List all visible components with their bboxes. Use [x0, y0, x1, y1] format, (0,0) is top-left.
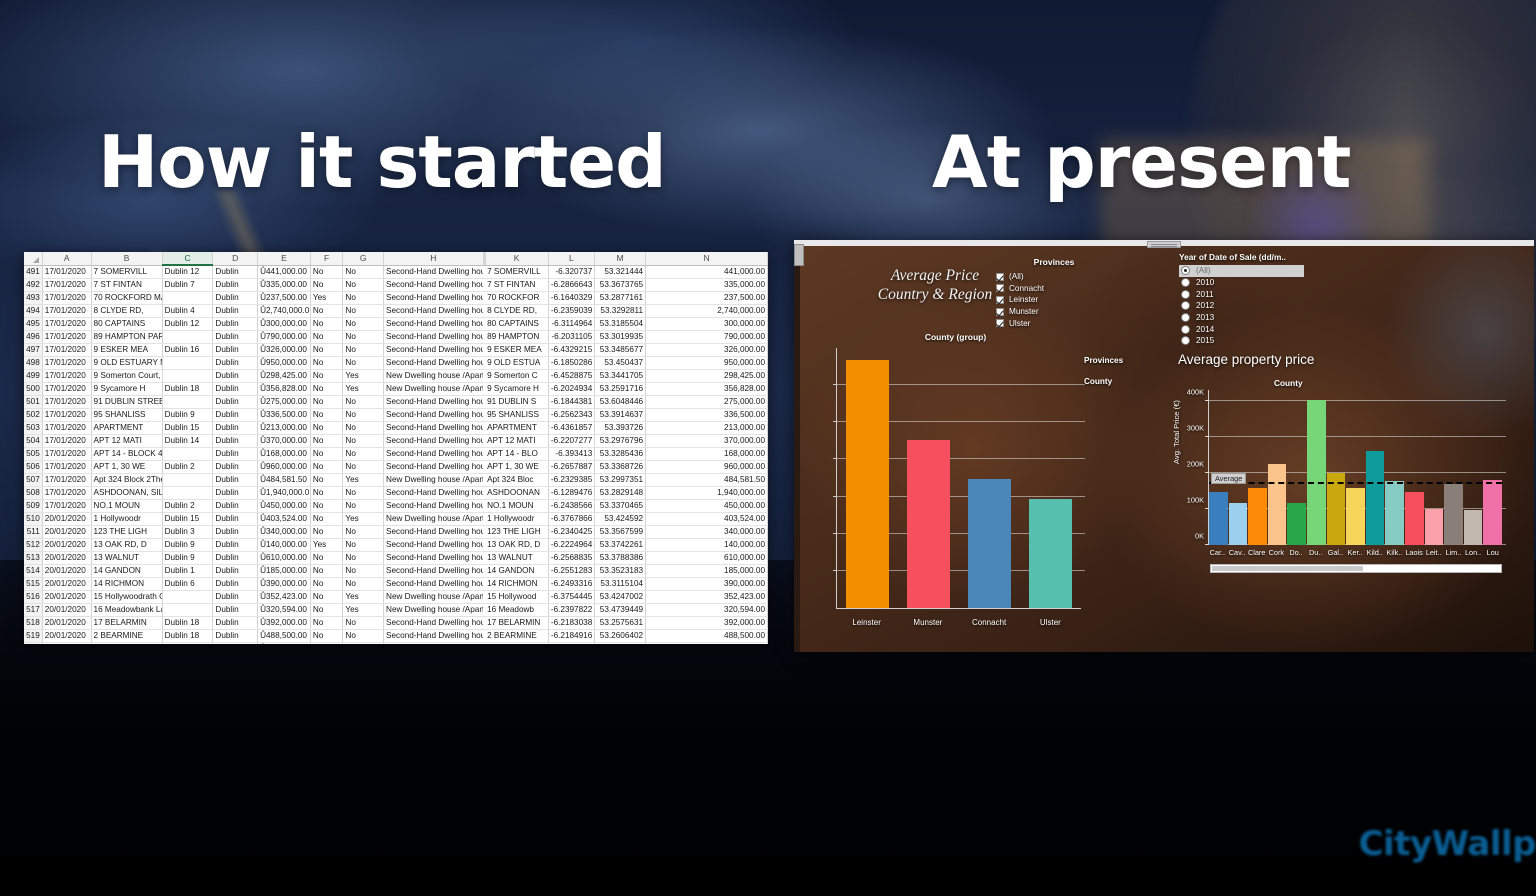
cell-b[interactable]: 1 Hollywoodr: [91, 513, 162, 526]
cell-f[interactable]: No: [310, 461, 343, 474]
cell-k[interactable]: 2 GLENBEIGH: [485, 643, 548, 645]
cell-d[interactable]: Dublin: [213, 344, 258, 357]
cell-nn[interactable]: 237,500.00: [646, 292, 768, 305]
cell-e[interactable]: Û185,000.00: [258, 565, 311, 578]
table-row[interactable]: 49717/01/20209 ESKER MEADublin 16DublinÛ…: [24, 344, 768, 357]
cell-k[interactable]: 9 Sycamore H: [485, 383, 548, 396]
cell-e[interactable]: Û300,000.00: [258, 318, 311, 331]
table-row[interactable]: 50017/01/20209 Sycamore HDublin 18Dublin…: [24, 383, 768, 396]
cell-nn[interactable]: 392,000.00: [646, 617, 768, 630]
cell-e[interactable]: Û390,000.00: [258, 578, 311, 591]
cell-l[interactable]: -6.1289476: [548, 487, 595, 500]
cell-nn[interactable]: 340,000.00: [646, 526, 768, 539]
row-number[interactable]: 493: [24, 292, 42, 305]
provinces-checkbox-list[interactable]: (All)ConnachtLeinsterMunsterUlster: [994, 271, 1114, 329]
row-number[interactable]: 510: [24, 513, 42, 526]
cell-h[interactable]: New Dwelling house /Apartment: [384, 591, 484, 604]
cell-g[interactable]: No: [343, 357, 384, 370]
cell-b[interactable]: 14 GANDON: [91, 565, 162, 578]
cell-f[interactable]: No: [310, 552, 343, 565]
cell-c[interactable]: Dublin 2: [162, 461, 213, 474]
cell-e[interactable]: Û213,000.00: [258, 422, 311, 435]
cell-g[interactable]: No: [343, 331, 384, 344]
cell-f[interactable]: No: [310, 357, 343, 370]
cell-g[interactable]: No: [343, 292, 384, 305]
cell-k[interactable]: 9 ESKER MEA: [485, 344, 548, 357]
cell-f[interactable]: No: [310, 643, 343, 645]
cell-d[interactable]: Dublin: [213, 461, 258, 474]
cell-h[interactable]: Second-Hand Dwelling house /Apartme: [384, 331, 484, 344]
cell-c[interactable]: [162, 448, 213, 461]
cell-m[interactable]: 53.2575631: [595, 617, 646, 630]
table-row[interactable]: 49317/01/202070 ROCKFORD MANOR, STDublin…: [24, 292, 768, 305]
cell-h[interactable]: Second-Hand Dwelling house /Apartme: [384, 461, 484, 474]
table-row[interactable]: 50717/01/2020Apt 324 Block 2The Elms,Dub…: [24, 474, 768, 487]
row-number[interactable]: 517: [24, 604, 42, 617]
cell-f[interactable]: No: [310, 409, 343, 422]
cell-k[interactable]: 1 Hollywoodr: [485, 513, 548, 526]
column-header-n[interactable]: N: [646, 252, 768, 265]
cell-a[interactable]: 17/01/2020: [42, 422, 91, 435]
radio-button-icon[interactable]: [1181, 290, 1190, 299]
cell-d[interactable]: Dublin: [213, 383, 258, 396]
cell-d[interactable]: Dublin: [213, 474, 258, 487]
cell-d[interactable]: Dublin: [213, 357, 258, 370]
row-number[interactable]: 499: [24, 370, 42, 383]
cell-e[interactable]: Û1,940,000.0: [258, 487, 311, 500]
table-row[interactable]: 51720/01/202016 Meadowbank Lane, MilDubl…: [24, 604, 768, 617]
cell-c[interactable]: [162, 357, 213, 370]
cell-l[interactable]: -6.3114964: [548, 318, 595, 331]
cell-h[interactable]: Second-Hand Dwelling house /Apartme: [384, 318, 484, 331]
cell-b[interactable]: 17 BELARMIN: [91, 617, 162, 630]
cell-a[interactable]: 20/01/2020: [42, 591, 91, 604]
cell-f[interactable]: No: [310, 591, 343, 604]
cell-b[interactable]: APT 12 MATI: [91, 435, 162, 448]
cell-b[interactable]: 15 Hollywoodrath Grove, H: [91, 591, 162, 604]
cell-k[interactable]: 14 RICHMON: [485, 578, 548, 591]
cell-nn[interactable]: 950,000.00: [646, 357, 768, 370]
bar-kerry[interactable]: [1346, 488, 1365, 545]
row-number[interactable]: 511: [24, 526, 42, 539]
radio-button-icon[interactable]: [1181, 336, 1190, 345]
cell-d[interactable]: Dublin: [213, 370, 258, 383]
cell-d[interactable]: Dublin: [213, 448, 258, 461]
cell-g[interactable]: No: [343, 552, 384, 565]
cell-h[interactable]: Second-Hand Dwelling house /Apartme: [384, 396, 484, 409]
row-number[interactable]: 492: [24, 279, 42, 292]
cell-c[interactable]: [162, 396, 213, 409]
cell-m[interactable]: 53.3523183: [595, 565, 646, 578]
cell-nn[interactable]: 352,423.00: [646, 591, 768, 604]
cell-nn[interactable]: 488,500.00: [646, 630, 768, 643]
cell-c[interactable]: Dublin 16: [162, 344, 213, 357]
cell-h[interactable]: Second-Hand Dwelling house /Apartme: [384, 357, 484, 370]
cell-f[interactable]: No: [310, 604, 343, 617]
cell-g[interactable]: No: [343, 279, 384, 292]
cell-g[interactable]: No: [343, 305, 384, 318]
cell-f[interactable]: No: [310, 305, 343, 318]
cell-a[interactable]: 17/01/2020: [42, 396, 91, 409]
row-number[interactable]: 503: [24, 422, 42, 435]
cell-nn[interactable]: 385,000.00: [646, 643, 768, 645]
dashboard-title-bar[interactable]: [794, 240, 1534, 246]
cell-f[interactable]: No: [310, 500, 343, 513]
cell-l[interactable]: -6.2183038: [548, 617, 595, 630]
table-row[interactable]: 51620/01/202015 Hollywoodrath Grove, HDu…: [24, 591, 768, 604]
cell-e[interactable]: Û326,000.00: [258, 344, 311, 357]
cell-k[interactable]: 15 Hollywood: [485, 591, 548, 604]
column-header-k[interactable]: K: [485, 252, 548, 265]
cell-a[interactable]: 17/01/2020: [42, 292, 91, 305]
cell-f[interactable]: No: [310, 344, 343, 357]
cell-c[interactable]: Dublin 18: [162, 617, 213, 630]
province-bars[interactable]: [837, 348, 1081, 608]
cell-e[interactable]: Û140,000.00: [258, 539, 311, 552]
cell-h[interactable]: Second-Hand Dwelling house /Apartme: [384, 552, 484, 565]
row-number[interactable]: 509: [24, 500, 42, 513]
cell-nn[interactable]: 320,594.00: [646, 604, 768, 617]
cell-d[interactable]: Dublin: [213, 500, 258, 513]
cell-a[interactable]: 17/01/2020: [42, 409, 91, 422]
cell-d[interactable]: Dublin: [213, 409, 258, 422]
cell-l[interactable]: -6.4528875: [548, 370, 595, 383]
cell-k[interactable]: 16 Meadowb: [485, 604, 548, 617]
cell-e[interactable]: Û403,524.00: [258, 513, 311, 526]
cell-c[interactable]: [162, 474, 213, 487]
province-bar-group[interactable]: [898, 348, 959, 608]
cell-l[interactable]: -6.1640329: [548, 292, 595, 305]
cell-e[interactable]: Û298,425.00: [258, 370, 311, 383]
cell-f[interactable]: No: [310, 422, 343, 435]
cell-nn[interactable]: 336,500.00: [646, 409, 768, 422]
cell-c[interactable]: Dublin 9: [162, 539, 213, 552]
table-row[interactable]: 51520/01/202014 RICHMONDublin 6DublinÛ39…: [24, 578, 768, 591]
cell-a[interactable]: 20/01/2020: [42, 578, 91, 591]
cell-k[interactable]: APT 14 - BLO: [485, 448, 548, 461]
cell-f[interactable]: No: [310, 617, 343, 630]
cell-m[interactable]: 53.3914637: [595, 409, 646, 422]
radio-button-icon[interactable]: [1181, 313, 1190, 322]
cell-l[interactable]: -6.2184916: [548, 630, 595, 643]
cell-l[interactable]: -6.3754445: [548, 591, 595, 604]
cell-nn[interactable]: 2,740,000.00: [646, 305, 768, 318]
row-number[interactable]: 507: [24, 474, 42, 487]
cell-f[interactable]: No: [310, 435, 343, 448]
cell-l[interactable]: -6.2551283: [548, 565, 595, 578]
cell-l[interactable]: -6.29601: [548, 643, 595, 645]
bar-limerick[interactable]: [1444, 484, 1463, 545]
cell-e[interactable]: Û488,500.00: [258, 630, 311, 643]
row-number[interactable]: 497: [24, 344, 42, 357]
cell-m[interactable]: 53.3292811: [595, 305, 646, 318]
cell-b[interactable]: 9 Somerton Court, Lucan: [91, 370, 162, 383]
cell-f[interactable]: No: [310, 370, 343, 383]
bar-kildare[interactable]: [1366, 451, 1385, 545]
cell-k[interactable]: APARTMENT: [485, 422, 548, 435]
year-radio-row-2013[interactable]: 2013: [1179, 312, 1304, 324]
cell-c[interactable]: Dublin 9: [162, 409, 213, 422]
cell-a[interactable]: 20/01/2020: [42, 552, 91, 565]
cell-h[interactable]: Second-Hand Dwelling house /Apartme: [384, 292, 484, 305]
cell-k[interactable]: 9 Somerton C: [485, 370, 548, 383]
county-chart-scrollbar[interactable]: [1210, 564, 1502, 573]
cell-nn[interactable]: 610,000.00: [646, 552, 768, 565]
cell-g[interactable]: Yes: [343, 591, 384, 604]
cell-b[interactable]: 2 BEARMINE: [91, 630, 162, 643]
cell-m[interactable]: 53.4247002: [595, 591, 646, 604]
cell-a[interactable]: 17/01/2020: [42, 265, 91, 279]
cell-h[interactable]: Second-Hand Dwelling house /Apartme: [384, 448, 484, 461]
row-number[interactable]: 500: [24, 383, 42, 396]
cell-nn[interactable]: 390,000.00: [646, 578, 768, 591]
table-row[interactable]: 50817/01/2020ASHDOONAN, SILCHESTERDublin…: [24, 487, 768, 500]
cell-l[interactable]: -6.2207277: [548, 435, 595, 448]
cell-a[interactable]: 17/01/2020: [42, 370, 91, 383]
cell-g[interactable]: No: [343, 422, 384, 435]
cell-h[interactable]: Second-Hand Dwelling house /Apartme: [384, 265, 484, 279]
cell-d[interactable]: Dublin: [213, 604, 258, 617]
cell-l[interactable]: -6.2329385: [548, 474, 595, 487]
row-number[interactable]: 496: [24, 331, 42, 344]
cell-b[interactable]: 80 CAPTAINS: [91, 318, 162, 331]
checkbox-icon[interactable]: [996, 319, 1004, 327]
cell-c[interactable]: Dublin 12: [162, 318, 213, 331]
cell-b[interactable]: Apt 324 Block 2The Elms,: [91, 474, 162, 487]
row-number[interactable]: 516: [24, 591, 42, 604]
cell-h[interactable]: Second-Hand Dwelling house /Apartme: [384, 578, 484, 591]
cell-g[interactable]: No: [343, 500, 384, 513]
table-row[interactable]: 51120/01/2020123 THE LIGHDublin 3DublinÛ…: [24, 526, 768, 539]
cell-g[interactable]: Yes: [343, 604, 384, 617]
cell-nn[interactable]: 356,828.00: [646, 383, 768, 396]
cell-f[interactable]: No: [310, 487, 343, 500]
cell-a[interactable]: 17/01/2020: [42, 344, 91, 357]
county-bar-chart[interactable]: Average property price County Avg. Total…: [1174, 352, 1504, 612]
cell-a[interactable]: 20/01/2020: [42, 604, 91, 617]
bar-munster[interactable]: [907, 440, 950, 608]
province-checkbox-row-all[interactable]: (All): [994, 271, 1114, 283]
cell-h[interactable]: Second-Hand Dwelling house /Apartme: [384, 344, 484, 357]
cell-m[interactable]: 53.2829148: [595, 487, 646, 500]
province-checkbox-row-leinster[interactable]: Leinster: [994, 294, 1114, 306]
cell-d[interactable]: Dublin: [213, 539, 258, 552]
province-bar-group[interactable]: [837, 348, 898, 608]
cell-k[interactable]: 123 THE LIGH: [485, 526, 548, 539]
cell-f[interactable]: No: [310, 513, 343, 526]
cell-b[interactable]: 16 Meadowbank Lane, Mil: [91, 604, 162, 617]
bar-laois[interactable]: [1405, 492, 1424, 545]
cell-b[interactable]: 13 OAK RD, D: [91, 539, 162, 552]
radio-button-icon[interactable]: [1181, 278, 1190, 287]
checkbox-icon[interactable]: [996, 308, 1004, 316]
cell-e[interactable]: Û484,581.50: [258, 474, 311, 487]
row-number[interactable]: 504: [24, 435, 42, 448]
cell-k[interactable]: 14 GANDON: [485, 565, 548, 578]
cell-c[interactable]: Dublin 6: [162, 578, 213, 591]
select-all-corner[interactable]: [24, 252, 42, 265]
cell-m[interactable]: 53.3673765: [595, 279, 646, 292]
cell-a[interactable]: 17/01/2020: [42, 448, 91, 461]
cell-l[interactable]: -6.2562343: [548, 409, 595, 422]
excel-spreadsheet[interactable]: ABCDEFGHIJKLMN 49117/01/20207 SOMERVILLD…: [24, 252, 768, 644]
row-number[interactable]: 501: [24, 396, 42, 409]
cell-g[interactable]: No: [343, 630, 384, 643]
cell-a[interactable]: 17/01/2020: [42, 357, 91, 370]
cell-nn[interactable]: 960,000.00: [646, 461, 768, 474]
cell-c[interactable]: Dublin 1: [162, 565, 213, 578]
spreadsheet-rows[interactable]: 49117/01/20207 SOMERVILLDublin 12DublinÛ…: [24, 265, 768, 644]
cell-k[interactable]: APT 1, 30 WE: [485, 461, 548, 474]
cell-a[interactable]: 17/01/2020: [42, 487, 91, 500]
table-row[interactable]: 50117/01/202091 DUBLIN STREET, BALBRDubl…: [24, 396, 768, 409]
table-row[interactable]: 49617/01/202089 HAMPTON PARK, ST HEDubli…: [24, 331, 768, 344]
radio-button-icon[interactable]: [1181, 325, 1190, 334]
cell-l[interactable]: -6.2866643: [548, 279, 595, 292]
cell-h[interactable]: Second-Hand Dwelling house /Apartme: [384, 630, 484, 643]
cell-f[interactable]: No: [310, 578, 343, 591]
cell-nn[interactable]: 140,000.00: [646, 539, 768, 552]
column-header-m[interactable]: M: [595, 252, 646, 265]
cell-g[interactable]: No: [343, 344, 384, 357]
cell-l[interactable]: -6.2031105: [548, 331, 595, 344]
cell-d[interactable]: Dublin: [213, 630, 258, 643]
table-row[interactable]: 50317/01/2020APARTMENTDublin 15DublinÛ21…: [24, 422, 768, 435]
dashboard-side-tab[interactable]: [794, 244, 804, 266]
table-row[interactable]: 49817/01/20209 OLD ESTUARY MILL, ESTDubl…: [24, 357, 768, 370]
cell-c[interactable]: Dublin 9: [162, 552, 213, 565]
cell-a[interactable]: 17/01/2020: [42, 500, 91, 513]
column-header-g[interactable]: G: [343, 252, 384, 265]
cell-l[interactable]: -6.4329215: [548, 344, 595, 357]
cell-c[interactable]: Dublin 7: [162, 643, 213, 645]
cell-b[interactable]: 14 RICHMON: [91, 578, 162, 591]
cell-c[interactable]: Dublin 18: [162, 383, 213, 396]
row-number[interactable]: 508: [24, 487, 42, 500]
cell-d[interactable]: Dublin: [213, 578, 258, 591]
cell-k[interactable]: 9 OLD ESTUA: [485, 357, 548, 370]
province-checkbox-row-ulster[interactable]: Ulster: [994, 317, 1114, 329]
spreadsheet-table[interactable]: ABCDEFGHIJKLMN 49117/01/20207 SOMERVILLD…: [24, 252, 768, 644]
cell-m[interactable]: 53.2997351: [595, 474, 646, 487]
bar-clare[interactable]: [1248, 488, 1267, 545]
table-row[interactable]: 52020/01/20202 GLENBEIGHDublin 7DublinÛ3…: [24, 643, 768, 645]
table-row[interactable]: 49117/01/20207 SOMERVILLDublin 12DublinÛ…: [24, 265, 768, 279]
cell-h[interactable]: New Dwelling house /Apartment: [384, 474, 484, 487]
spreadsheet-column-headers[interactable]: ABCDEFGHIJKLMN: [24, 252, 768, 265]
cell-k[interactable]: ASHDOONAN: [485, 487, 548, 500]
table-row[interactable]: 50917/01/2020NO.1 MOUNDublin 2DublinÛ450…: [24, 500, 768, 513]
cell-c[interactable]: Dublin 2: [162, 500, 213, 513]
cell-l[interactable]: -6.393413: [548, 448, 595, 461]
cell-a[interactable]: 20/01/2020: [42, 526, 91, 539]
column-header-h[interactable]: H: [384, 252, 484, 265]
cell-c[interactable]: [162, 604, 213, 617]
cell-a[interactable]: 20/01/2020: [42, 630, 91, 643]
cell-nn[interactable]: 441,000.00: [646, 265, 768, 279]
cell-e[interactable]: Û335,000.00: [258, 279, 311, 292]
row-number[interactable]: 519: [24, 630, 42, 643]
cell-f[interactable]: No: [310, 526, 343, 539]
row-number[interactable]: 514: [24, 565, 42, 578]
cell-c[interactable]: [162, 487, 213, 500]
cell-b[interactable]: NO.1 MOUN: [91, 500, 162, 513]
cell-a[interactable]: 20/01/2020: [42, 539, 91, 552]
bar-louth[interactable]: [1483, 480, 1502, 545]
cell-m[interactable]: 53.3441705: [595, 370, 646, 383]
cell-d[interactable]: Dublin: [213, 331, 258, 344]
cell-k[interactable]: 70 ROCKFOR: [485, 292, 548, 305]
checkbox-icon[interactable]: [996, 296, 1004, 304]
cell-b[interactable]: APT 1, 30 WE: [91, 461, 162, 474]
cell-k[interactable]: NO.1 MOUN: [485, 500, 548, 513]
cell-l[interactable]: -6.2657887: [548, 461, 595, 474]
column-header-e[interactable]: E: [258, 252, 311, 265]
cell-a[interactable]: 20/01/2020: [42, 565, 91, 578]
cell-l[interactable]: -6.2397822: [548, 604, 595, 617]
cell-b[interactable]: 7 ST FINTAN: [91, 279, 162, 292]
column-header-a[interactable]: A: [42, 252, 91, 265]
cell-e[interactable]: Û960,000.00: [258, 461, 311, 474]
cell-b[interactable]: 8 CLYDE RD,: [91, 305, 162, 318]
cell-k[interactable]: Apt 324 Bloc: [485, 474, 548, 487]
year-radio-row-2011[interactable]: 2011: [1179, 288, 1304, 300]
cell-k[interactable]: 13 OAK RD, D: [485, 539, 548, 552]
cell-h[interactable]: Second-Hand Dwelling house /Apartme: [384, 422, 484, 435]
cell-g[interactable]: No: [343, 448, 384, 461]
row-number[interactable]: 515: [24, 578, 42, 591]
cell-k[interactable]: 91 DUBLIN S: [485, 396, 548, 409]
cell-c[interactable]: Dublin 4: [162, 305, 213, 318]
bar-leinster[interactable]: [846, 360, 889, 608]
cell-b[interactable]: 7 SOMERVILL: [91, 265, 162, 279]
cell-h[interactable]: Second-Hand Dwelling house /Apartme: [384, 279, 484, 292]
cell-b[interactable]: 95 SHANLISS: [91, 409, 162, 422]
cell-nn[interactable]: 298,425.00: [646, 370, 768, 383]
cell-d[interactable]: Dublin: [213, 265, 258, 279]
cell-m[interactable]: 53.6048446: [595, 396, 646, 409]
cell-b[interactable]: 2 GLENBEIGH: [91, 643, 162, 645]
cell-c[interactable]: [162, 591, 213, 604]
cell-c[interactable]: [162, 370, 213, 383]
cell-g[interactable]: No: [343, 578, 384, 591]
table-row[interactable]: 50217/01/202095 SHANLISSDublin 9DublinÛ3…: [24, 409, 768, 422]
bar-carlow[interactable]: [1209, 492, 1228, 545]
cell-nn[interactable]: 326,000.00: [646, 344, 768, 357]
cell-c[interactable]: Dublin 15: [162, 513, 213, 526]
cell-nn[interactable]: 790,000.00: [646, 331, 768, 344]
table-row[interactable]: 49517/01/202080 CAPTAINSDublin 12DublinÛ…: [24, 318, 768, 331]
bar-longford[interactable]: [1464, 510, 1483, 545]
cell-l[interactable]: -6.1844381: [548, 396, 595, 409]
table-row[interactable]: 49917/01/20209 Somerton Court, LucanDubl…: [24, 370, 768, 383]
cell-d[interactable]: Dublin: [213, 643, 258, 645]
cell-d[interactable]: Dublin: [213, 591, 258, 604]
cell-nn[interactable]: 185,000.00: [646, 565, 768, 578]
cell-h[interactable]: Second-Hand Dwelling house /Apartme: [384, 435, 484, 448]
cell-k[interactable]: 7 ST FINTAN: [485, 279, 548, 292]
cell-g[interactable]: No: [343, 265, 384, 279]
cell-a[interactable]: 17/01/2020: [42, 435, 91, 448]
cell-nn[interactable]: 275,000.00: [646, 396, 768, 409]
radio-button-icon[interactable]: [1181, 301, 1190, 310]
cell-k[interactable]: 7 SOMERVILL: [485, 265, 548, 279]
cell-e[interactable]: Û320,594.00: [258, 604, 311, 617]
cell-e[interactable]: Û352,423.00: [258, 591, 311, 604]
cell-h[interactable]: New Dwelling house /Apartment: [384, 604, 484, 617]
year-filter[interactable]: Year of Date of Sale (dd/m.. (All)201020…: [1179, 252, 1304, 347]
row-number[interactable]: 498: [24, 357, 42, 370]
